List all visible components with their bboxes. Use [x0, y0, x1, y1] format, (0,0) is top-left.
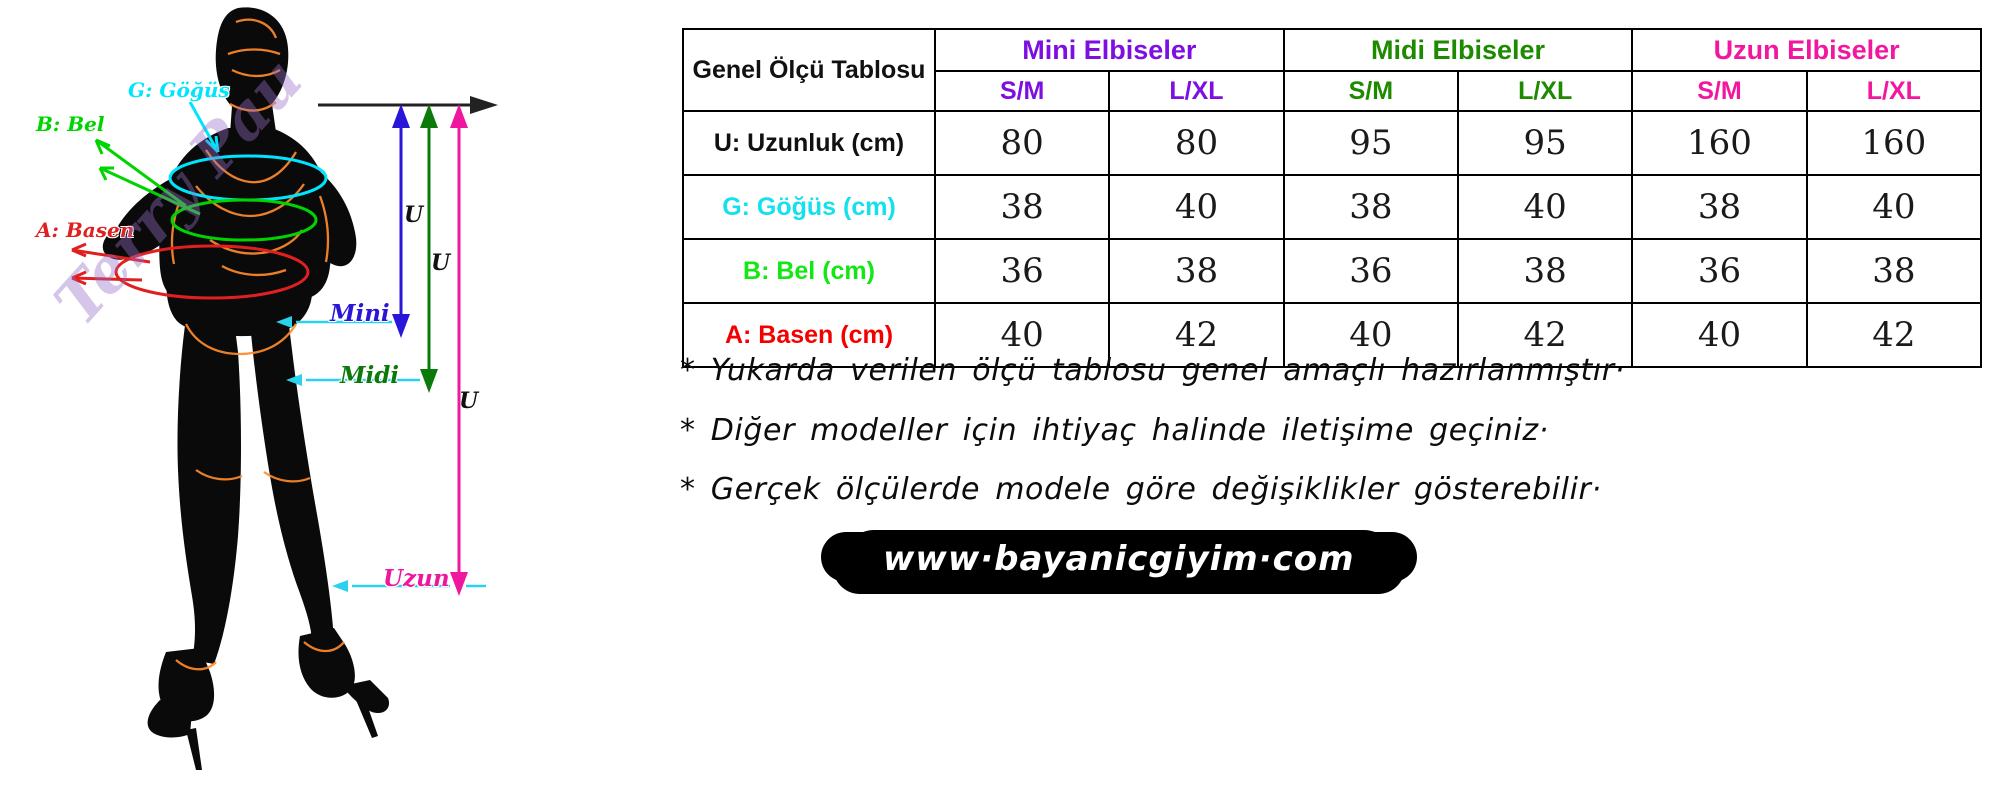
figure-panel: G: Göğüs B: Bel A: Basen Mini Midi Uzun … — [0, 0, 660, 811]
row-label-gogus: G: Göğüs (cm) — [683, 175, 935, 239]
label-mini: Mini — [330, 300, 390, 327]
cell-bel-uzun-lxl: 38 — [1807, 239, 1981, 303]
size-header-midi-sm: S/M — [1284, 71, 1458, 111]
table-row: U: Uzunluk (cm) 80 80 95 95 160 160 — [683, 111, 1981, 175]
cell-uzunluk-uzun-sm: 160 — [1632, 111, 1806, 175]
group-header-mini: Mini Elbiseler — [935, 29, 1284, 71]
row-label-uzunluk: U: Uzunluk (cm) — [683, 111, 935, 175]
group-header-midi: Midi Elbiseler — [1284, 29, 1633, 71]
cell-gogus-uzun-lxl: 40 — [1807, 175, 1981, 239]
label-gogus: G: Göğüs — [128, 78, 230, 102]
cell-gogus-midi-sm: 38 — [1284, 175, 1458, 239]
cell-uzunluk-midi-lxl: 95 — [1458, 111, 1632, 175]
note-line-3: * Gerçek ölçülerde modele göre değişikli… — [680, 471, 2000, 509]
cell-gogus-mini-lxl: 40 — [1109, 175, 1283, 239]
cell-uzunluk-midi-sm: 95 — [1284, 111, 1458, 175]
row-label-bel: B: Bel (cm) — [683, 239, 935, 303]
label-bel: B: Bel — [36, 112, 104, 136]
cell-uzunluk-mini-sm: 80 — [935, 111, 1109, 175]
label-midi: Midi — [340, 362, 399, 389]
website-badge[interactable]: www·bayanicgiyim·com — [843, 530, 1395, 592]
table-corner-label: Genel Ölçü Tablosu — [683, 29, 935, 111]
info-panel: Genel Ölçü Tablosu Mini Elbiseler Midi E… — [660, 0, 2010, 811]
size-header-uzun-lxl: L/XL — [1807, 71, 1981, 111]
table-header-row-groups: Genel Ölçü Tablosu Mini Elbiseler Midi E… — [683, 29, 1981, 71]
cell-uzunluk-uzun-lxl: 160 — [1807, 111, 1981, 175]
size-header-mini-lxl: L/XL — [1109, 71, 1283, 111]
cell-gogus-uzun-sm: 38 — [1632, 175, 1806, 239]
label-uzun: Uzun — [383, 565, 450, 592]
cell-uzunluk-mini-lxl: 80 — [1109, 111, 1283, 175]
notes-list: * Yukarda verilen ölçü tablosu genel ama… — [680, 352, 2000, 531]
group-header-uzun: Uzun Elbiseler — [1632, 29, 1981, 71]
size-header-midi-lxl: L/XL — [1458, 71, 1632, 111]
cell-gogus-mini-sm: 38 — [935, 175, 1109, 239]
cell-bel-mini-sm: 36 — [935, 239, 1109, 303]
note-line-2: * Diğer modeller için ihtiyaç halinde il… — [680, 412, 2000, 450]
cell-bel-mini-lxl: 38 — [1109, 239, 1283, 303]
cell-bel-midi-sm: 36 — [1284, 239, 1458, 303]
size-header-mini-sm: S/M — [935, 71, 1109, 111]
u-mark-uzun: U — [459, 388, 478, 414]
table-row: G: Göğüs (cm) 38 40 38 40 38 40 — [683, 175, 1981, 239]
cell-bel-midi-lxl: 38 — [1458, 239, 1632, 303]
label-basen: A: Basen — [36, 218, 134, 242]
size-header-uzun-sm: S/M — [1632, 71, 1806, 111]
table-row: B: Bel (cm) 36 38 36 38 36 38 — [683, 239, 1981, 303]
u-mark-midi: U — [431, 250, 450, 276]
u-mark-mini: U — [404, 202, 423, 228]
note-line-1: * Yukarda verilen ölçü tablosu genel ama… — [680, 352, 2000, 390]
cell-gogus-midi-lxl: 40 — [1458, 175, 1632, 239]
cell-bel-uzun-sm: 36 — [1632, 239, 1806, 303]
size-chart-table: Genel Ölçü Tablosu Mini Elbiseler Midi E… — [682, 28, 1982, 368]
